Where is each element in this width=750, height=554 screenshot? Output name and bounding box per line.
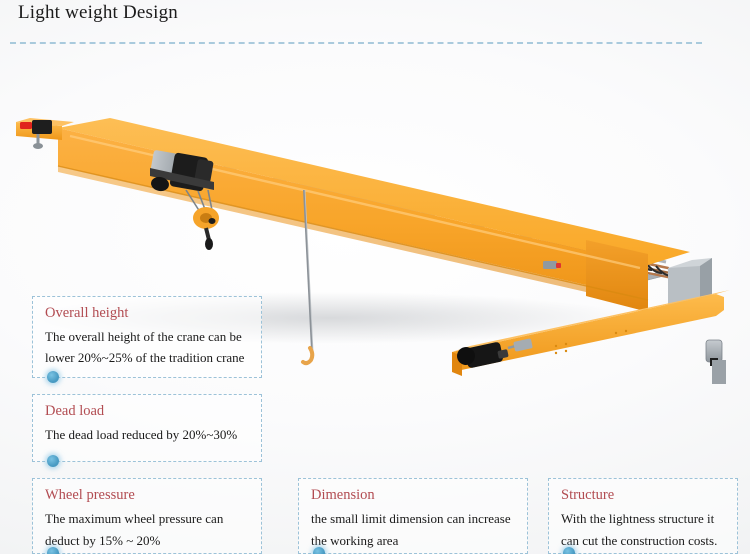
info-line: can cut the construction costs.: [561, 530, 727, 552]
girder-fitting: [543, 261, 557, 269]
info-title-dead-load: Dead load: [45, 401, 251, 423]
title-divider: [10, 42, 702, 44]
bullet-dot-icon: [47, 547, 59, 554]
info-box-overall-height[interactable]: Overall height The overall height of the…: [32, 296, 262, 378]
bullet-dot-icon: [563, 547, 575, 554]
pulley-block: [193, 207, 219, 250]
bullet-dot-icon: [313, 547, 325, 554]
lifting-hook: [303, 348, 312, 363]
info-box-structure[interactable]: Structure With the lightness structure i…: [548, 478, 738, 554]
left-buffer: [20, 122, 32, 129]
info-line: The overall height of the crane can be: [45, 326, 251, 347]
info-box-dead-load[interactable]: Dead load The dead load reduced by 20%~3…: [32, 394, 262, 462]
info-title-structure: Structure: [561, 485, 727, 507]
info-box-dimension[interactable]: Dimension the small limit dimension can …: [298, 478, 528, 554]
bullet-dot-icon: [47, 455, 59, 467]
page-title: Light weight Design: [18, 2, 178, 24]
info-line: the working area: [311, 530, 517, 552]
info-title-overall-height: Overall height: [45, 303, 251, 325]
info-line: deduct by 15% ~ 20%: [45, 530, 251, 552]
bullet-dot-icon: [47, 371, 59, 383]
info-title-dimension: Dimension: [311, 485, 517, 507]
info-title-wheel-pressure: Wheel pressure: [45, 485, 251, 507]
page-root: Light weight Design: [0, 0, 750, 554]
runway-rail: [712, 360, 726, 384]
info-line: the small limit dimension can increase: [311, 508, 517, 530]
info-line: The dead load reduced by 20%~30%: [45, 424, 251, 445]
info-line: lower 20%~25% of the tradition crane: [45, 347, 251, 368]
info-line: With the lightness structure it: [561, 508, 727, 530]
lower-hook-block: [205, 238, 213, 250]
info-box-wheel-pressure[interactable]: Wheel pressure The maximum wheel pressur…: [32, 478, 262, 554]
main-girder: [58, 118, 690, 312]
info-line: The maximum wheel pressure can: [45, 508, 251, 530]
